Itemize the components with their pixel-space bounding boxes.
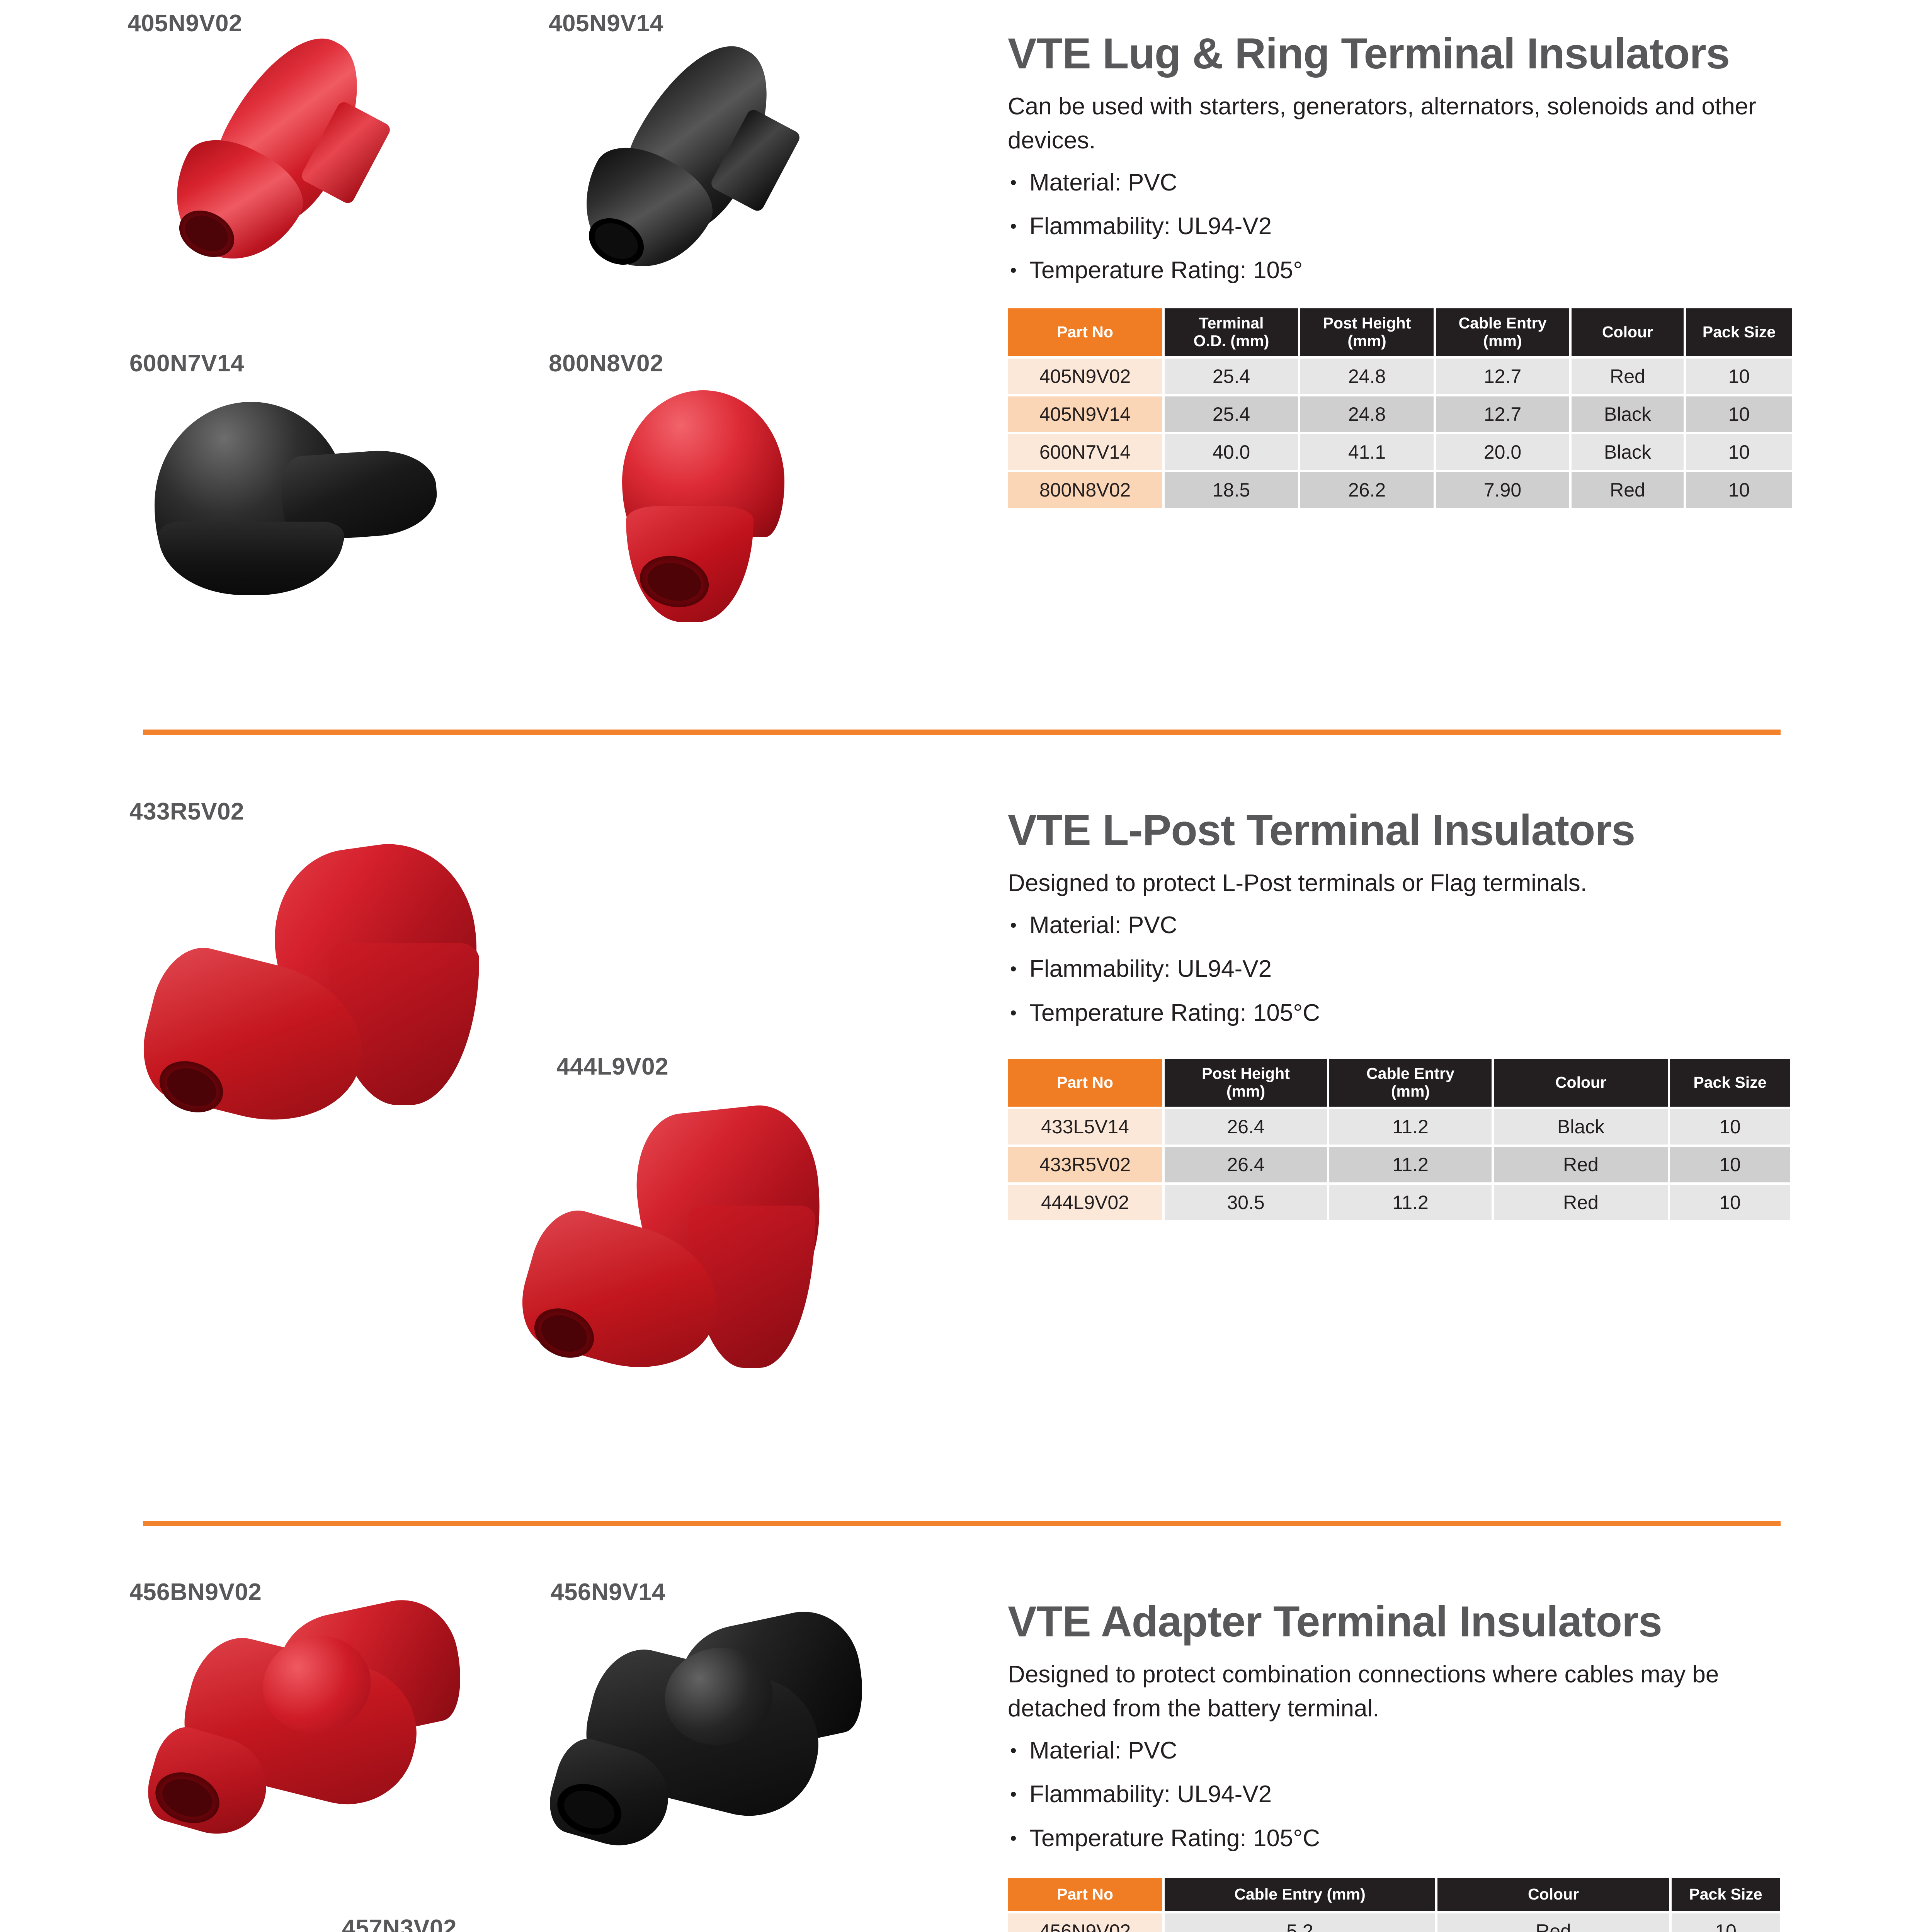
product-457n3v02: 457N3V02 xyxy=(342,1917,457,1932)
cell-pack-size: 10 xyxy=(1686,434,1792,470)
cell-pack-size: 10 xyxy=(1686,472,1792,508)
product-405n9v14: 405N9V14 xyxy=(549,12,663,36)
bullet-icon xyxy=(1011,1010,1016,1015)
cell-post-height: 26.4 xyxy=(1165,1109,1327,1145)
col-header-cable-entry: Cable Entry (mm) xyxy=(1165,1878,1435,1911)
cell-cable-entry: 7.90 xyxy=(1436,472,1569,508)
cell-colour: Black xyxy=(1572,434,1684,470)
cell-part-no: 405N9V02 xyxy=(1008,359,1162,394)
cell-part-no: 600N7V14 xyxy=(1008,434,1162,470)
cell-pack-size: 10 xyxy=(1670,1109,1790,1145)
bullet-icon xyxy=(1011,224,1016,229)
col-header-colour: Colour xyxy=(1572,308,1684,356)
table-row: 405N9V02 25.4 24.8 12.7 Red 10 xyxy=(1008,359,1792,394)
cell-cable-entry: 5.2 xyxy=(1165,1913,1435,1932)
table-row: 444L9V02 30.5 11.2 Red 10 xyxy=(1008,1185,1790,1220)
col-header-part-no: Part No xyxy=(1008,1059,1162,1107)
section-text-column-2: VTE L-Post Terminal Insulators Designed … xyxy=(1008,746,1819,1223)
cell-colour: Red xyxy=(1437,1913,1669,1932)
col-header-pack-size: Pack Size xyxy=(1672,1878,1780,1911)
product-image-444l9v02 xyxy=(526,1109,881,1395)
col-header-terminal-od: TerminalO.D. (mm) xyxy=(1165,308,1298,356)
cell-post-height: 30.5 xyxy=(1165,1185,1327,1220)
spec-text: Material: PVC xyxy=(1029,1737,1177,1764)
section-description: Designed to protect L-Post terminals or … xyxy=(1008,866,1812,900)
cell-part-no: 405N9V14 xyxy=(1008,396,1162,432)
bullet-icon xyxy=(1011,1748,1016,1753)
cell-terminal-od: 40.0 xyxy=(1165,434,1298,470)
section-spec-list: Material: PVC Flammability: UL94-V2 Temp… xyxy=(1008,169,1819,284)
section-spec-list: Material: PVC Flammability: UL94-V2 Temp… xyxy=(1008,1737,1819,1852)
cell-post-height: 26.4 xyxy=(1165,1147,1327,1182)
cell-cable-entry: 11.2 xyxy=(1329,1147,1492,1182)
spec-item: Material: PVC xyxy=(1008,912,1819,939)
product-image-800n8v02 xyxy=(568,390,839,622)
cell-pack-size: 10 xyxy=(1670,1185,1790,1220)
product-444l9v02: 444L9V02 xyxy=(556,1055,668,1079)
section-description: Designed to protect combination connecti… xyxy=(1008,1658,1812,1726)
cell-colour: Red xyxy=(1494,1185,1668,1220)
cell-cable-entry: 11.2 xyxy=(1329,1185,1492,1220)
cell-colour: Black xyxy=(1572,396,1684,432)
bullet-icon xyxy=(1011,923,1016,928)
cell-post-height: 24.8 xyxy=(1300,396,1434,432)
product-image-433r5v02 xyxy=(147,846,553,1136)
section-adapter: 456BN9V02 456N9V14 xyxy=(0,1542,1917,1932)
product-456bn9v02: 456BN9V02 xyxy=(129,1580,262,1604)
product-label: 800N8V02 xyxy=(549,352,663,376)
cell-pack-size: 10 xyxy=(1686,359,1792,394)
cell-cable-entry: 20.0 xyxy=(1436,434,1569,470)
table-row: 433L5V14 26.4 11.2 Black 10 xyxy=(1008,1109,1790,1145)
section-l-post: 433R5V02 444L9V02 VTE L-Post xyxy=(0,746,1917,1522)
product-image-405n9v02 xyxy=(166,31,444,282)
cell-colour: Red xyxy=(1572,472,1684,508)
product-433r5v02: 433R5V02 xyxy=(129,800,244,824)
product-label: 457N3V02 xyxy=(342,1917,457,1932)
bullet-icon xyxy=(1011,268,1016,273)
col-header-post-height: Post Height(mm) xyxy=(1300,308,1434,356)
spec-table-adapter: Part No Cable Entry (mm) Colour Pack Siz… xyxy=(1005,1876,1782,1932)
spec-item: Material: PVC xyxy=(1008,169,1819,196)
cell-terminal-od: 25.4 xyxy=(1165,359,1298,394)
cell-terminal-od: 18.5 xyxy=(1165,472,1298,508)
product-600n7v14: 600N7V14 xyxy=(129,352,244,376)
section-lug-ring: 405N9V02 405N9V14 600N xyxy=(0,0,1917,726)
table-row: 433R5V02 26.4 11.2 Red 10 xyxy=(1008,1147,1790,1182)
product-image-456n9v14 xyxy=(553,1619,873,1859)
spec-text: Flammability: UL94-V2 xyxy=(1029,956,1272,982)
spec-text: Flammability: UL94-V2 xyxy=(1029,213,1272,240)
product-image-column-2: 433R5V02 444L9V02 xyxy=(0,746,993,1522)
cell-post-height: 24.8 xyxy=(1300,359,1434,394)
cell-pack-size: 10 xyxy=(1686,396,1792,432)
table-row: 405N9V14 25.4 24.8 12.7 Black 10 xyxy=(1008,396,1792,432)
cell-cable-entry: 11.2 xyxy=(1329,1109,1492,1145)
spec-text: Material: PVC xyxy=(1029,912,1177,939)
table-row: 800N8V02 18.5 26.2 7.90 Red 10 xyxy=(1008,472,1792,508)
bullet-icon xyxy=(1011,1792,1016,1797)
cell-cable-entry: 12.7 xyxy=(1436,396,1569,432)
col-header-part-no: Part No xyxy=(1008,308,1162,356)
table-row: 456N9V02 5.2 Red 10 xyxy=(1008,1913,1780,1932)
table-header-row: Part No Cable Entry (mm) Colour Pack Siz… xyxy=(1008,1878,1780,1911)
spec-item: Temperature Rating: 105° xyxy=(1008,257,1819,284)
table-header-row: Part No TerminalO.D. (mm) Post Height(mm… xyxy=(1008,308,1792,356)
section-divider-2 xyxy=(143,1521,1781,1526)
spec-text: Temperature Rating: 105° xyxy=(1029,257,1303,284)
cell-pack-size: 10 xyxy=(1672,1913,1780,1932)
spec-item: Flammability: UL94-V2 xyxy=(1008,213,1819,240)
spec-item: Flammability: UL94-V2 xyxy=(1008,1781,1819,1808)
cell-cable-entry: 12.7 xyxy=(1436,359,1569,394)
section-text-column-3: VTE Adapter Terminal Insulators Designed… xyxy=(1008,1542,1819,1932)
spec-text: Temperature Rating: 105°C xyxy=(1029,1000,1320,1026)
spec-text: Flammability: UL94-V2 xyxy=(1029,1781,1272,1808)
spec-table-l-post: Part No Post Height(mm) Cable Entry(mm) … xyxy=(1005,1056,1792,1223)
cell-part-no: 433L5V14 xyxy=(1008,1109,1162,1145)
cell-part-no: 456N9V02 xyxy=(1008,1913,1162,1932)
product-label: 433R5V02 xyxy=(129,800,244,824)
section-divider-1 xyxy=(143,730,1781,735)
section-title: VTE Adapter Terminal Insulators xyxy=(1008,1599,1819,1645)
spec-item: Temperature Rating: 105°C xyxy=(1008,1000,1819,1026)
cell-post-height: 41.1 xyxy=(1300,434,1434,470)
table-row: 600N7V14 40.0 41.1 20.0 Black 10 xyxy=(1008,434,1792,470)
table-header-row: Part No Post Height(mm) Cable Entry(mm) … xyxy=(1008,1059,1790,1107)
col-header-cable-entry: Cable Entry(mm) xyxy=(1436,308,1569,356)
col-header-pack-size: Pack Size xyxy=(1670,1059,1790,1107)
section-title: VTE Lug & Ring Terminal Insulators xyxy=(1008,31,1819,77)
product-label: 456N9V14 xyxy=(551,1580,665,1604)
cell-colour: Black xyxy=(1494,1109,1668,1145)
cell-pack-size: 10 xyxy=(1670,1147,1790,1182)
product-label: 600N7V14 xyxy=(129,352,244,376)
cell-part-no: 444L9V02 xyxy=(1008,1185,1162,1220)
cell-part-no: 433R5V02 xyxy=(1008,1147,1162,1182)
product-image-456bn9v02 xyxy=(151,1607,471,1847)
col-header-post-height: Post Height(mm) xyxy=(1165,1059,1327,1107)
product-image-column-1: 405N9V02 405N9V14 600N xyxy=(0,0,993,726)
product-label: 405N9V14 xyxy=(549,12,663,36)
product-label: 444L9V02 xyxy=(556,1055,668,1079)
bullet-icon xyxy=(1011,180,1016,185)
product-image-column-3: 456BN9V02 456N9V14 xyxy=(0,1542,993,1932)
spec-table-lug-ring: Part No TerminalO.D. (mm) Post Height(mm… xyxy=(1005,306,1795,510)
spec-item: Temperature Rating: 105°C xyxy=(1008,1825,1819,1852)
product-image-600n7v14 xyxy=(155,394,495,611)
col-header-pack-size: Pack Size xyxy=(1686,308,1792,356)
section-text-column-1: VTE Lug & Ring Terminal Insulators Can b… xyxy=(1008,0,1819,510)
spec-item: Material: PVC xyxy=(1008,1737,1819,1764)
spec-text: Material: PVC xyxy=(1029,169,1177,196)
col-header-colour: Colour xyxy=(1494,1059,1668,1107)
cell-colour: Red xyxy=(1572,359,1684,394)
col-header-part-no: Part No xyxy=(1008,1878,1162,1911)
bullet-icon xyxy=(1011,966,1016,971)
section-title: VTE L-Post Terminal Insulators xyxy=(1008,808,1819,853)
spec-item: Flammability: UL94-V2 xyxy=(1008,956,1819,982)
section-description: Can be used with starters, generators, a… xyxy=(1008,90,1812,158)
product-image-405n9v14 xyxy=(576,39,854,290)
col-header-colour: Colour xyxy=(1437,1878,1669,1911)
spec-text: Temperature Rating: 105°C xyxy=(1029,1825,1320,1852)
product-800n8v02: 800N8V02 xyxy=(549,352,663,376)
cell-colour: Red xyxy=(1494,1147,1668,1182)
cell-terminal-od: 25.4 xyxy=(1165,396,1298,432)
product-456n9v14: 456N9V14 xyxy=(551,1580,665,1604)
col-header-cable-entry: Cable Entry(mm) xyxy=(1329,1059,1492,1107)
catalog-page: 405N9V02 405N9V14 600N xyxy=(0,0,1917,1932)
cell-post-height: 26.2 xyxy=(1300,472,1434,508)
bullet-icon xyxy=(1011,1836,1016,1841)
product-label: 456BN9V02 xyxy=(129,1580,262,1604)
cell-part-no: 800N8V02 xyxy=(1008,472,1162,508)
section-spec-list: Material: PVC Flammability: UL94-V2 Temp… xyxy=(1008,912,1819,1026)
